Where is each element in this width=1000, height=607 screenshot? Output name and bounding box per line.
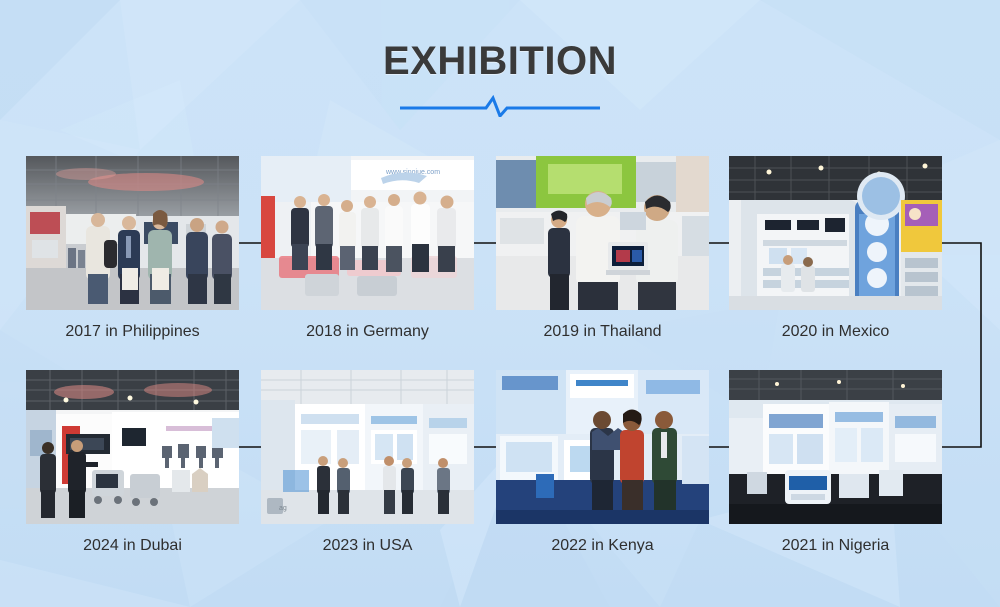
caption-2019: 2019 in Thailand	[496, 323, 709, 341]
title-block: EXHIBITION	[0, 40, 1000, 117]
pulse-line-divider-icon	[400, 95, 600, 117]
exhibition-photo-2019[interactable]	[496, 156, 709, 310]
caption-2017: 2017 in Philippines	[26, 323, 239, 341]
timeline-item-2024[interactable]: 2024 in Dubai	[26, 370, 239, 555]
exhibition-photo-2022[interactable]	[496, 370, 709, 524]
caption-2018: 2018 in Germany	[261, 323, 474, 341]
exhibition-photo-2021[interactable]	[729, 370, 942, 524]
caption-2023: 2023 in USA	[261, 537, 474, 555]
exhibition-photo-2018[interactable]: www.sinojue.com	[261, 156, 474, 310]
exhibition-photo-2020[interactable]	[729, 156, 942, 310]
exhibition-photo-2023[interactable]: ag	[261, 370, 474, 524]
page-title: EXHIBITION	[0, 40, 1000, 83]
caption-2021: 2021 in Nigeria	[729, 537, 942, 555]
timeline-item-2019[interactable]: 2019 in Thailand	[496, 156, 709, 341]
timeline-item-2018[interactable]: www.sinojue.com	[261, 156, 474, 341]
caption-2024: 2024 in Dubai	[26, 537, 239, 555]
caption-2022: 2022 in Kenya	[496, 537, 709, 555]
svg-text:ag: ag	[279, 505, 287, 512]
exhibition-photo-2024[interactable]	[26, 370, 239, 524]
exhibition-photo-2017[interactable]	[26, 156, 239, 310]
timeline-item-2021[interactable]: 2021 in Nigeria	[729, 370, 942, 555]
title-divider	[0, 95, 1000, 117]
timeline-item-2020[interactable]: 2020 in Mexico	[729, 156, 942, 341]
timeline-item-2017[interactable]: 2017 in Philippines	[26, 156, 239, 341]
caption-2020: 2020 in Mexico	[729, 323, 942, 341]
timeline-item-2023[interactable]: ag 2023 in USA	[261, 370, 474, 555]
timeline-item-2022[interactable]: 2022 in Kenya	[496, 370, 709, 555]
